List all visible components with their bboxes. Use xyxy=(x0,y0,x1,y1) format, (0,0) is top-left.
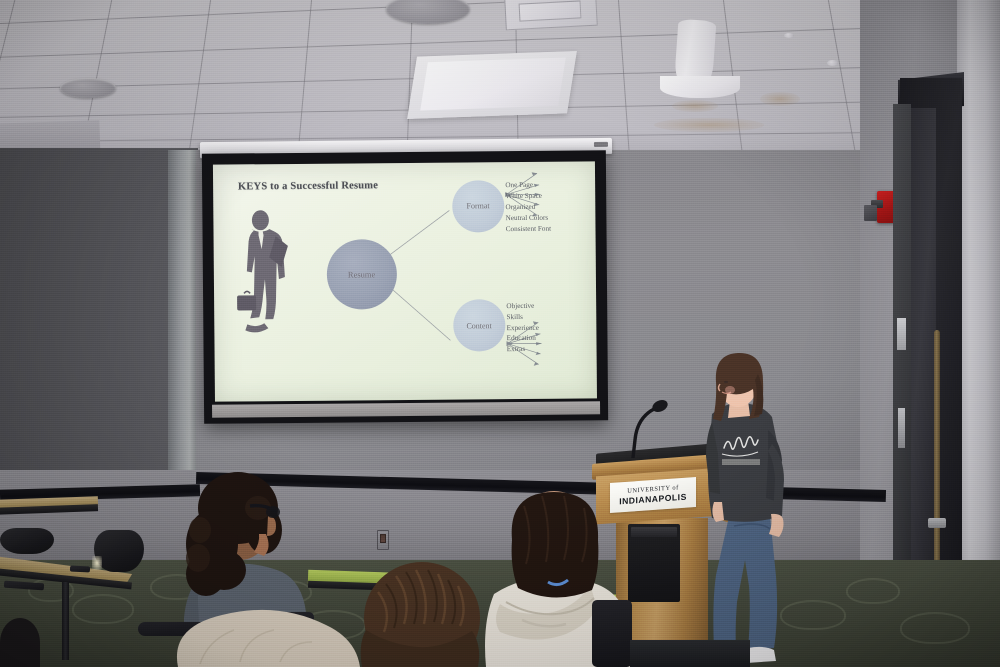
list-item: Organized xyxy=(505,201,550,212)
door-push-pad[interactable] xyxy=(928,518,946,528)
diagram-node-resume: Resume xyxy=(326,239,397,310)
switch-toggle[interactable] xyxy=(380,534,386,543)
list-item: Extras xyxy=(507,344,539,355)
door-open[interactable] xyxy=(893,104,911,631)
list-item: Experience xyxy=(507,322,539,333)
presenter-jeans xyxy=(713,510,777,650)
screen-housing-endcap xyxy=(594,142,608,147)
phone-on-table[interactable] xyxy=(70,565,90,572)
list-item: Objective xyxy=(506,300,538,311)
ceiling-air-vent-icon xyxy=(519,0,582,21)
projected-slide: KEYS to a Successful Resume xyxy=(213,161,597,401)
presenter xyxy=(672,352,800,667)
door-latch-plate xyxy=(898,408,905,448)
sweater xyxy=(177,610,360,667)
screen-bottom-bar xyxy=(212,401,600,417)
ceiling-speaker-icon xyxy=(60,78,116,98)
presenter-shoe xyxy=(746,647,776,663)
audience-head-sliver xyxy=(0,618,40,667)
light-switch-plate[interactable] xyxy=(377,530,389,550)
format-bullet-list: One Page White Space Organized Neutral C… xyxy=(505,179,551,234)
businessman-silhouette-icon xyxy=(234,209,297,342)
ceiling-stain xyxy=(672,100,718,112)
table-leg xyxy=(62,582,69,660)
foreground-chair xyxy=(630,640,750,667)
duct-diffuser xyxy=(660,76,740,98)
light-diffuser xyxy=(420,57,566,110)
alarm-body xyxy=(864,205,877,221)
backpack xyxy=(0,528,54,554)
doorway-opening xyxy=(908,108,936,628)
list-item: One Page xyxy=(505,179,550,190)
chair-back-right xyxy=(592,600,632,667)
projection-screen: KEYS to a Successful Resume xyxy=(202,150,608,424)
classroom-presentation-photo: KEYS to a Successful Resume xyxy=(0,0,1000,667)
list-item: White Space xyxy=(505,190,550,201)
smoke-detector-icon xyxy=(784,33,794,38)
screen-glow xyxy=(92,556,102,570)
content-bullet-list: Objective Skills Experience Education Ex… xyxy=(506,300,539,355)
list-item: Consistent Font xyxy=(506,223,551,234)
presenter-head xyxy=(713,353,763,421)
ceiling-stain xyxy=(760,92,800,106)
list-item: Neutral Colors xyxy=(506,212,551,223)
door-card-reader[interactable] xyxy=(897,318,906,350)
list-item: Skills xyxy=(506,311,538,322)
diagram-node-format: Format xyxy=(452,180,504,232)
ceiling-stain xyxy=(654,118,764,132)
list-item: Education xyxy=(507,333,539,344)
audience-person-bottom-left xyxy=(150,600,370,667)
slide-canvas: KEYS to a Successful Resume xyxy=(213,161,597,401)
smoke-detector-icon xyxy=(827,60,838,66)
